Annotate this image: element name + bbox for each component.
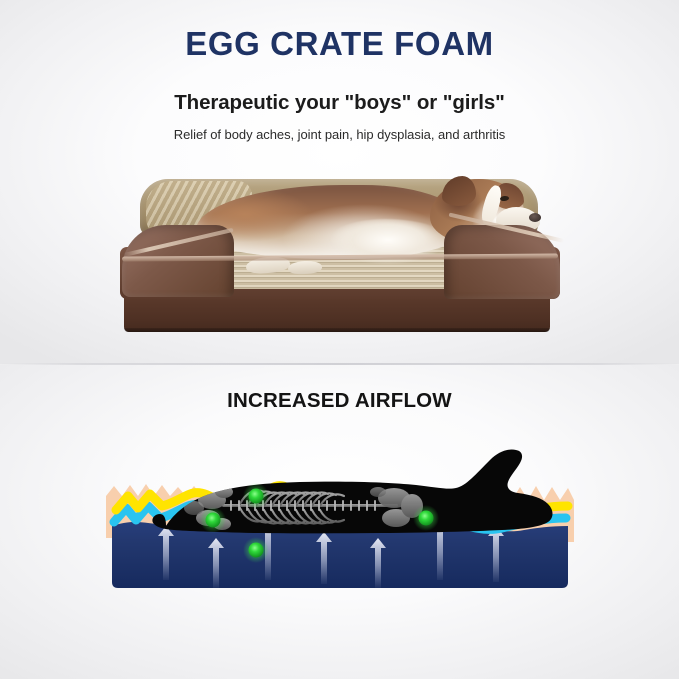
dog-ear-left — [442, 176, 476, 206]
airflow-heading: INCREASED AIRFLOW — [0, 389, 679, 413]
dog-second-paw — [288, 260, 323, 275]
product-infographic-page: EGG CRATE FOAM Therapeutic your "boys" o… — [0, 0, 679, 679]
page-title: EGG CRATE FOAM — [0, 26, 679, 63]
top-panel: EGG CRATE FOAM Therapeutic your "boys" o… — [0, 0, 679, 364]
benefit-description: Relief of body aches, joint pain, hip dy… — [0, 127, 679, 142]
subheading: Therapeutic your "boys" or "girls" — [0, 91, 679, 115]
product-photo — [112, 163, 568, 343]
dog-nose — [529, 213, 541, 222]
airflow-diagram — [104, 430, 576, 590]
